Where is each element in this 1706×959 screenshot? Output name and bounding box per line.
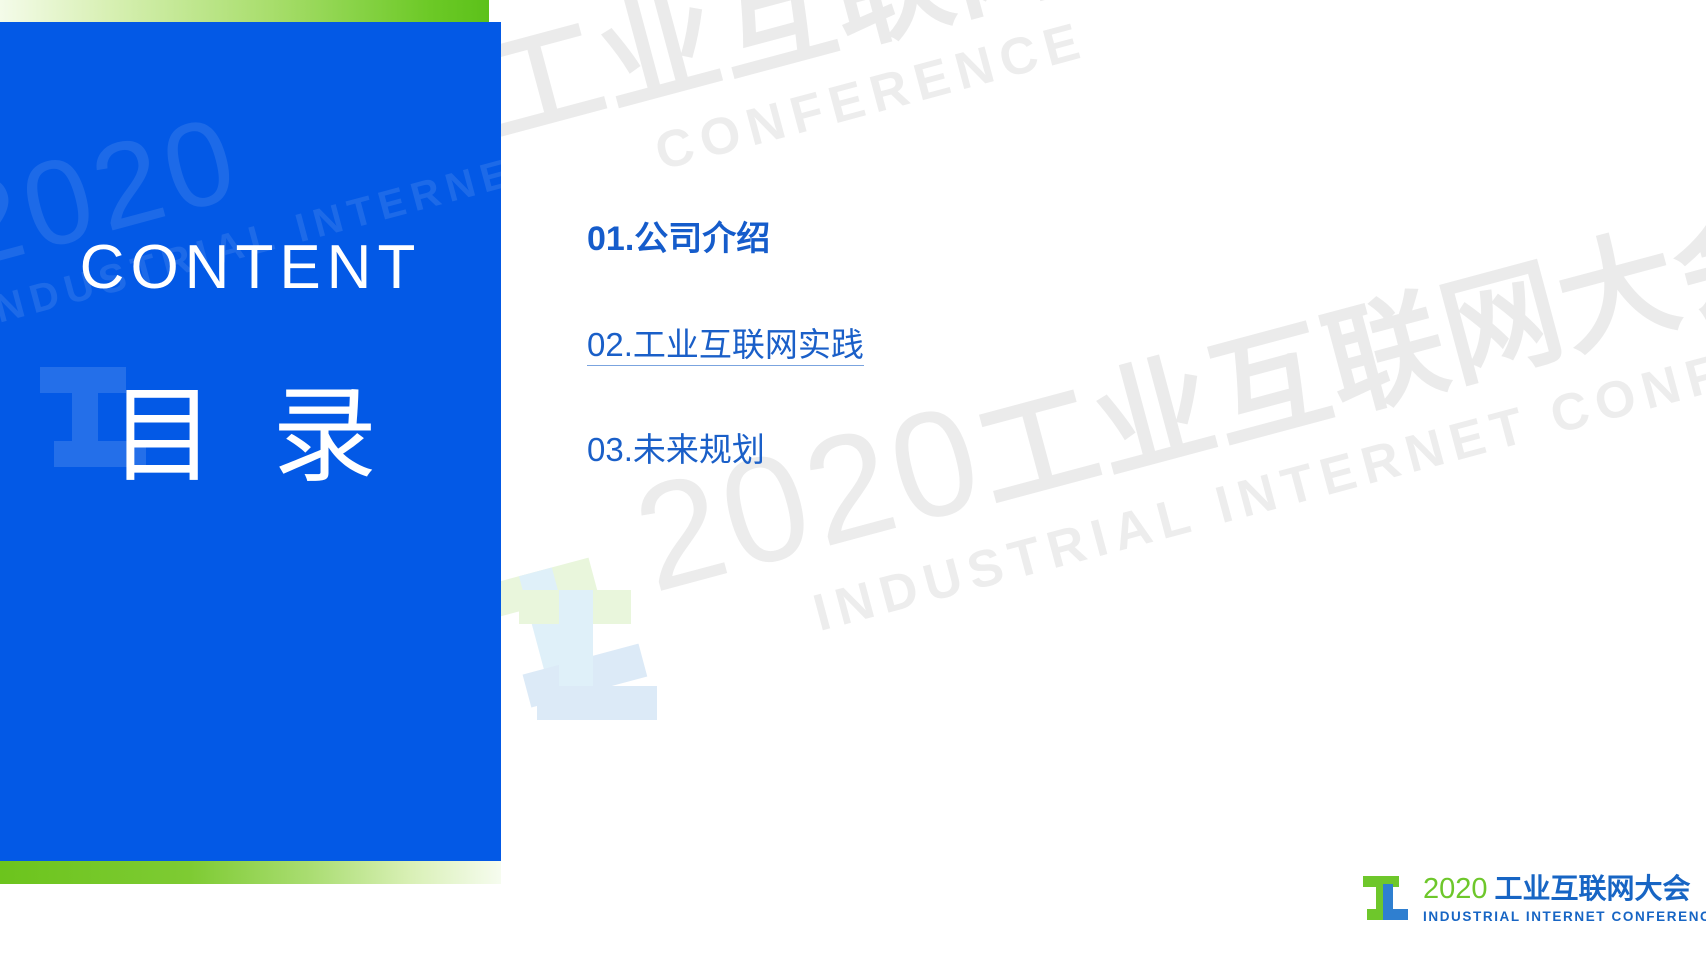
toc-item-02-label: 02.工业互联网实践 xyxy=(587,326,864,366)
toc-item-01[interactable]: 01.公司介绍 xyxy=(587,222,1287,256)
watermark-upper-main: 工业互联网大会 xyxy=(501,0,1313,154)
green-accent-bar-bottom xyxy=(0,860,501,884)
conference-logo-row1: 2020 工业互联网大会 xyxy=(1423,875,1706,904)
toc-item-02[interactable]: 02.工业互联网实践 xyxy=(587,328,1287,361)
watermark-upper-sub: CONFERENCE xyxy=(650,0,1330,179)
watermark-upper-logo-icon xyxy=(501,537,673,725)
slide-canvas: 2020 INDUSTRIAL INTERNET CONFERENCE CONT… xyxy=(0,0,1706,959)
toc-menu: 01.公司介绍 02.工业互联网实践 03.未来规划 xyxy=(587,222,1287,466)
toc-item-03-label: 03.未来规划 xyxy=(587,431,765,468)
conference-logo-year: 2020 xyxy=(1423,875,1488,904)
toc-item-03[interactable]: 03.未来规划 xyxy=(587,433,1287,466)
left-blue-panel: 2020 INDUSTRIAL INTERNET CONFERENCE CONT… xyxy=(0,22,501,861)
watermark-upper: 工业互联网大会 CONFERENCE xyxy=(501,0,1330,218)
footer-conference-logo: 2020 工业互联网大会 INDUSTRIAL INTERNET CONFERE… xyxy=(1363,874,1706,924)
conference-logo-name-en: INDUSTRIAL INTERNET CONFERENCE xyxy=(1423,910,1706,924)
content-area: 工业互联网大会 CONFERENCE 2020工业互联网大会 INDUSTRIA… xyxy=(501,0,1706,959)
watermark-lower-logo-icon xyxy=(515,582,680,732)
green-accent-bar-top xyxy=(0,0,489,23)
panel-title-english: CONTENT xyxy=(0,237,501,299)
conference-logo-icon xyxy=(1363,874,1415,924)
panel-title-chinese: 目 录 xyxy=(0,377,501,498)
conference-logo-text: 2020 工业互联网大会 INDUSTRIAL INTERNET CONFERE… xyxy=(1423,875,1706,924)
toc-item-01-label: 01.公司介绍 xyxy=(587,220,770,258)
conference-logo-name-cn: 工业互联网大会 xyxy=(1495,875,1691,903)
